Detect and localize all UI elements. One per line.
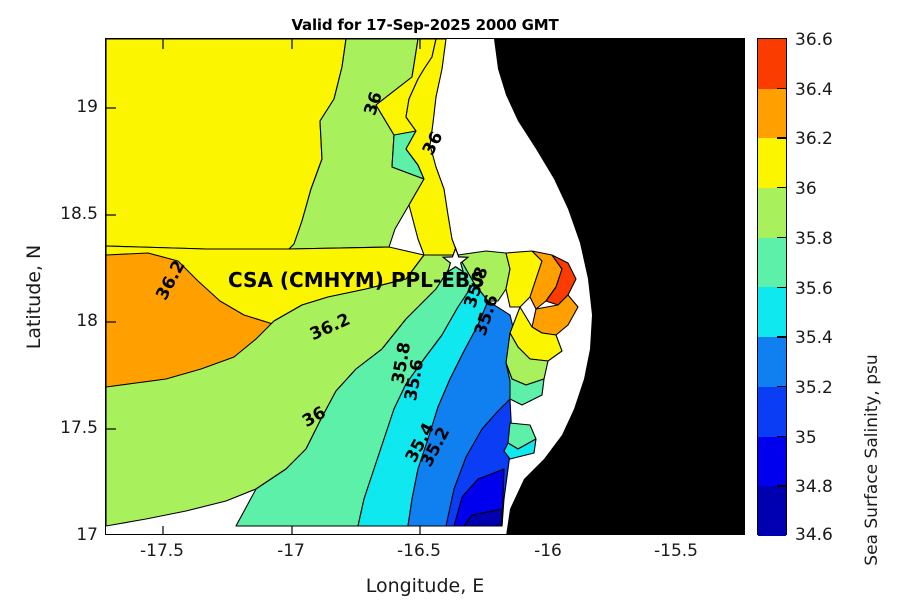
colorbar-band-35.4-35.6 bbox=[758, 287, 786, 337]
colorbar-tick-label: 35.2 bbox=[795, 378, 833, 398]
colorbar-band-35.0-35.2 bbox=[758, 387, 786, 437]
colorbar-tick-mark bbox=[777, 287, 786, 288]
colorbar-tick-label: 35.4 bbox=[795, 328, 833, 348]
colorbar-tick-mark bbox=[777, 386, 786, 387]
colorbar-title: Sea Surface Salinity, psu bbox=[862, 310, 882, 610]
colorbar-band-36.4-36.6 bbox=[758, 39, 786, 89]
station-label: CSA (CMHYM) PPL-EBS bbox=[228, 268, 485, 292]
ytick-label: 18.5 bbox=[44, 204, 98, 224]
figure-title: Valid for 17-Sep-2025 2000 GMT bbox=[105, 16, 745, 34]
colorbar-tick-label: 35 bbox=[795, 428, 817, 448]
colorbar-band-35.8-36.0 bbox=[758, 188, 786, 238]
xtick-label: -17.5 bbox=[140, 541, 184, 561]
ytick-label: 19 bbox=[60, 97, 98, 117]
xtick-label: -16 bbox=[534, 541, 562, 561]
colorbar-tick-label: 35.8 bbox=[795, 229, 833, 249]
colorbar-tick-mark bbox=[777, 88, 786, 89]
colorbar-tick-mark bbox=[777, 436, 786, 437]
colorbar-tick-label: 36.4 bbox=[795, 80, 833, 100]
xtick-label: -16.5 bbox=[397, 541, 441, 561]
xtick-label: -17 bbox=[277, 541, 305, 561]
x-axis-title: Longitude, E bbox=[105, 575, 745, 597]
ytick-label: 18 bbox=[60, 311, 98, 331]
colorbar-band-35.2-35.4 bbox=[758, 337, 786, 387]
colorbar-band-36.0-36.2 bbox=[758, 138, 786, 188]
colorbar-tick-mark bbox=[777, 336, 786, 337]
colorbar-band-35.6-35.8 bbox=[758, 238, 786, 288]
colorbar-tick-mark bbox=[777, 137, 786, 138]
figure-canvas: Valid for 17-Sep-2025 2000 GMT bbox=[0, 0, 900, 600]
colorbar-tick-label: 36 bbox=[795, 179, 817, 199]
y-axis-title: Latitude, N bbox=[23, 197, 45, 397]
colorbar-tick-mark bbox=[777, 237, 786, 238]
colorbar-band-34.6-34.8 bbox=[758, 486, 786, 536]
colorbar-tick-label: 36.6 bbox=[795, 30, 833, 50]
colorbar-tick-label: 35.6 bbox=[795, 279, 833, 299]
xtick-label: -15.5 bbox=[654, 541, 698, 561]
colorbar-band-34.8-35.0 bbox=[758, 437, 786, 487]
colorbar-band-36.2-36.4 bbox=[758, 89, 786, 139]
colorbar-tick-label: 34.6 bbox=[795, 525, 833, 545]
ytick-label: 17.5 bbox=[44, 418, 98, 438]
ytick-label: 17 bbox=[60, 525, 98, 545]
colorbar-tick-label: 34.8 bbox=[795, 477, 833, 497]
colorbar-tick-mark bbox=[777, 485, 786, 486]
colorbar-tick-mark bbox=[777, 187, 786, 188]
colorbar-tick-label: 36.2 bbox=[795, 129, 833, 149]
